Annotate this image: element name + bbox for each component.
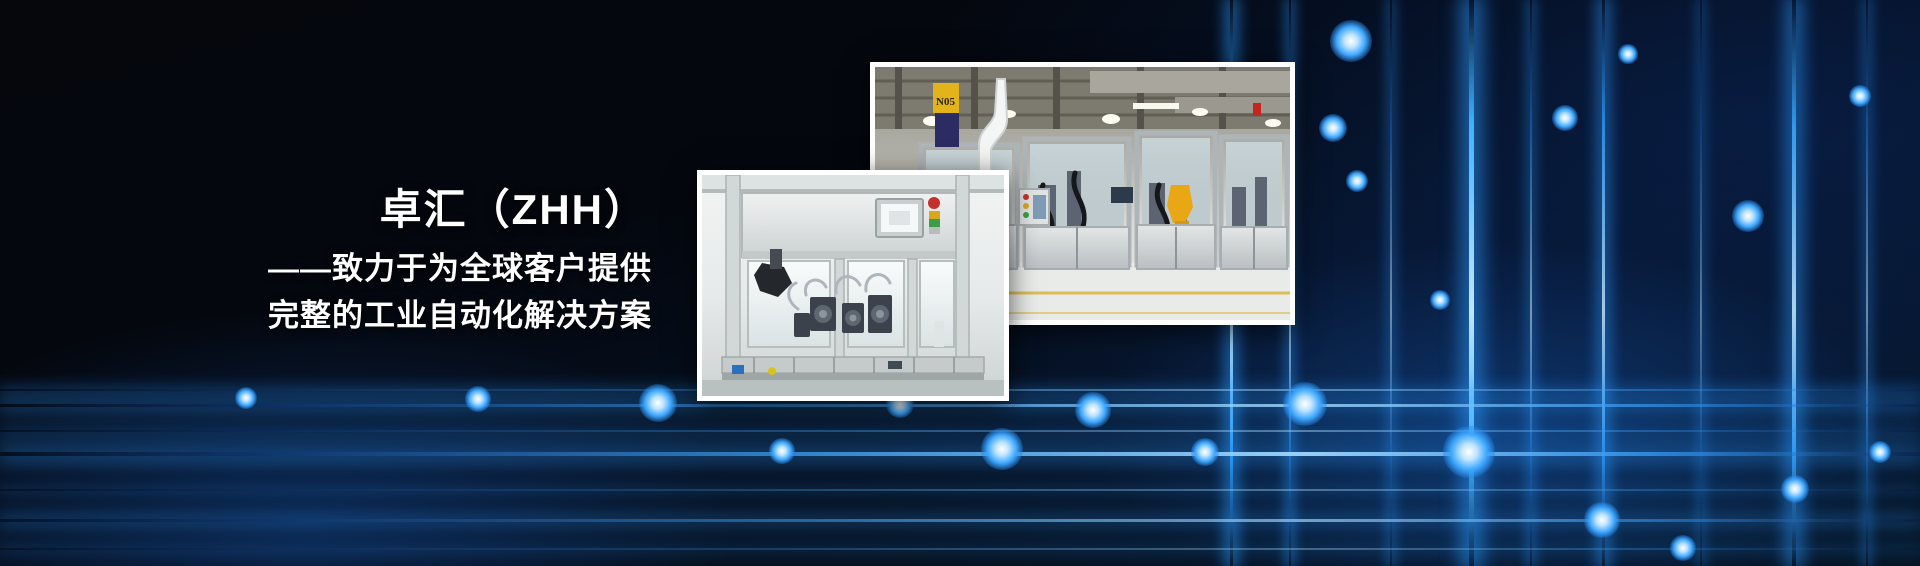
hero-subtitle-line2: 完整的工业自动化解决方案 xyxy=(0,290,652,335)
light-particle-1 xyxy=(1319,114,1348,143)
vertical-light-line-6 xyxy=(1700,0,1702,566)
light-particle-7 xyxy=(1430,290,1449,309)
light-particle-15 xyxy=(1191,438,1220,467)
vertical-light-line-5 xyxy=(1602,0,1605,566)
assembly-cell-illustration xyxy=(702,175,1004,396)
light-particle-2 xyxy=(1346,170,1368,192)
light-particle-18 xyxy=(1584,502,1619,537)
hero-banner: N05 xyxy=(0,0,1920,566)
light-particle-3 xyxy=(1552,105,1578,131)
light-particle-5 xyxy=(1732,200,1764,232)
industrial-automation-cell-front-photo xyxy=(697,170,1009,401)
light-particle-19 xyxy=(1781,475,1810,504)
light-particle-4 xyxy=(1618,44,1637,63)
light-particle-8 xyxy=(1283,382,1328,427)
hero-subtitle-line1: ——致力于为全球客户提供 xyxy=(0,243,652,288)
vertical-light-line-8 xyxy=(1866,0,1868,566)
vertical-light-line-3 xyxy=(1469,0,1474,566)
hero-title: 卓汇（ZHH） xyxy=(0,176,648,237)
light-particle-14 xyxy=(1443,426,1494,477)
light-particle-16 xyxy=(981,428,1023,470)
svg-text:N05: N05 xyxy=(936,96,955,108)
light-particle-9 xyxy=(1075,392,1110,427)
light-particle-21 xyxy=(1670,535,1696,561)
light-particle-0 xyxy=(1330,20,1372,62)
vertical-light-line-2 xyxy=(1390,0,1392,566)
light-particle-20 xyxy=(1869,441,1891,463)
light-particle-17 xyxy=(769,438,795,464)
vertical-light-line-4 xyxy=(1530,0,1532,566)
hero-text-block: 卓汇（ZHH） ——致力于为全球客户提供 完整的工业自动化解决方案 xyxy=(0,0,700,566)
